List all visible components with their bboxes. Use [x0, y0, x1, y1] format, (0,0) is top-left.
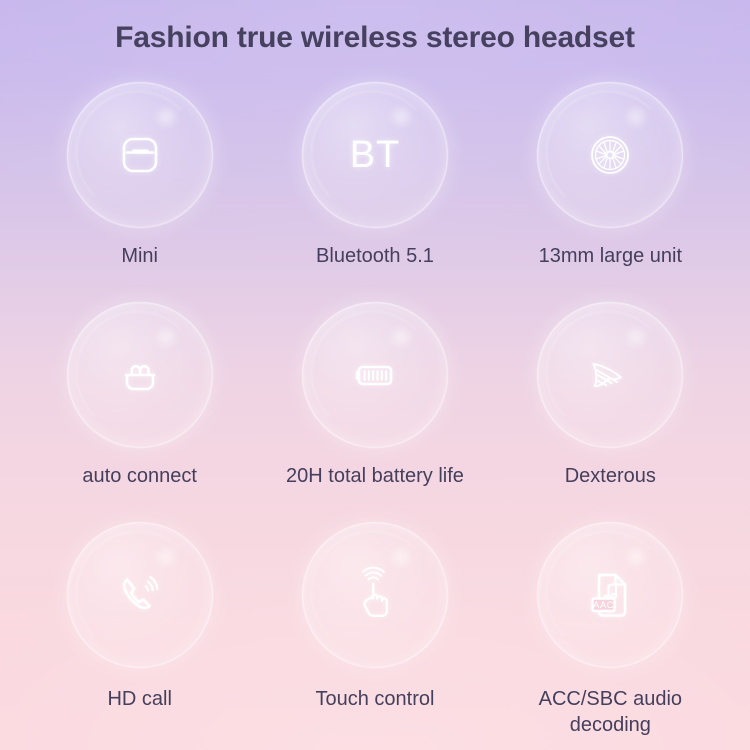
feature-label: 13mm large unit	[539, 244, 682, 270]
feature-bubble: BT	[302, 82, 448, 228]
feature-label: Dexterous	[565, 464, 656, 490]
aac-audio-file-icon: AAC	[580, 565, 640, 625]
feature-bubble	[67, 82, 213, 228]
feature-label: HD call	[107, 687, 171, 713]
feature-item-hd-call: HD call	[22, 522, 257, 742]
feature-label: 20H total battery life	[286, 464, 464, 490]
feature-bubble	[537, 302, 683, 448]
touch-hand-icon	[345, 565, 405, 625]
feather-icon	[580, 345, 640, 405]
page-title: Fashion true wireless stereo headset	[0, 21, 750, 55]
phone-call-icon	[110, 565, 170, 625]
feature-bubble	[67, 302, 213, 448]
feature-bubble	[67, 522, 213, 668]
feature-item-driver: 13mm large unit	[493, 82, 728, 302]
feature-item-auto-connect: auto connect	[22, 302, 257, 522]
feature-bubble	[302, 522, 448, 668]
speaker-driver-icon	[580, 125, 640, 185]
feature-label: auto connect	[82, 464, 197, 490]
feature-item-bluetooth: BT Bluetooth 5.1	[257, 82, 492, 302]
feature-item-mini: Mini	[22, 82, 257, 302]
feature-label: Touch control	[316, 687, 435, 713]
feature-bubble	[537, 82, 683, 228]
earbud-case-open-icon	[110, 345, 170, 405]
bubble-highlight	[386, 106, 416, 128]
feature-label: Mini	[121, 244, 158, 270]
feature-item-touch-control: Touch control	[257, 522, 492, 742]
feature-item-battery: 20H total battery life	[257, 302, 492, 522]
feature-bubble: AAC	[537, 522, 683, 668]
feature-item-dexterous: Dexterous	[493, 302, 728, 522]
feature-bubble	[302, 302, 448, 448]
battery-icon	[345, 345, 405, 405]
feature-label: Bluetooth 5.1	[316, 244, 434, 270]
feature-grid: Mini BT Bluetooth 5.1	[22, 82, 728, 742]
svg-text:AAC: AAC	[593, 600, 614, 611]
feature-label: ACC/SBC audio decoding	[505, 687, 715, 738]
product-feature-poster: Fashion true wireless stereo headset Min…	[0, 0, 750, 750]
earbud-case-closed-icon	[110, 125, 170, 185]
bt-text-icon: BT	[350, 134, 401, 177]
feature-item-codec: AAC ACC/SBC audio decoding	[493, 522, 728, 742]
